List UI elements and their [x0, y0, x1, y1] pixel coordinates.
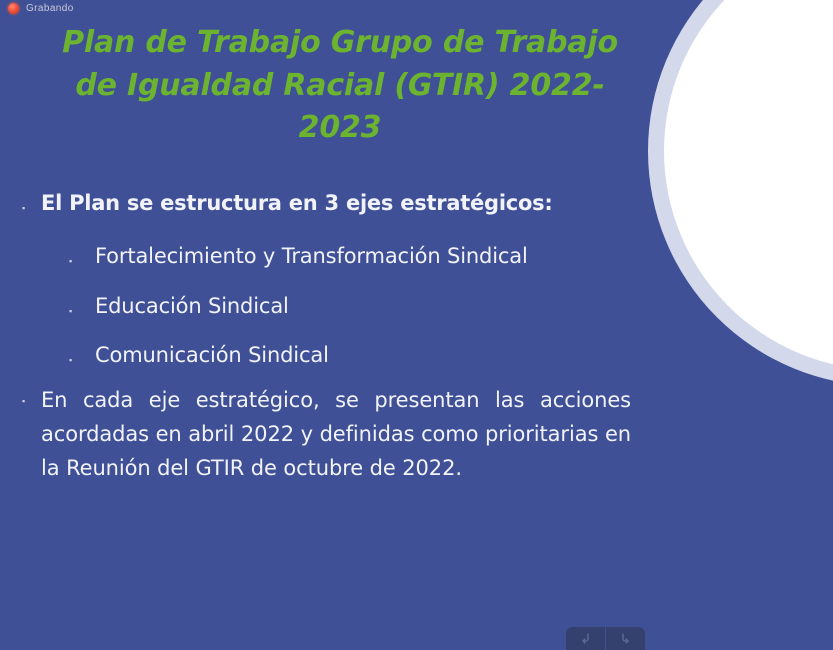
bullet-paragraph: ▪ En cada eje estratégico, se presentan …	[0, 383, 680, 485]
redo-button[interactable]	[605, 627, 645, 650]
sub-bullet-text: Comunicación Sindical	[95, 342, 329, 369]
bullet-lead-text: El Plan se estructura en 3 ejes estratég…	[41, 190, 553, 217]
presentation-slide: Grabando Plan de Trabajo Grupo de Trabaj…	[0, 0, 833, 650]
sub-bullet-axis-3: ▪ Comunicación Sindical	[0, 342, 680, 369]
sub-bullet-axis-1: ▪ Fortalecimiento y Transformación Sindi…	[0, 243, 680, 270]
undo-button[interactable]	[566, 627, 605, 650]
bullet-marker-icon: ▪	[69, 356, 79, 365]
bullet-marker-icon: ▪	[22, 204, 32, 213]
recording-indicator: Grabando	[8, 3, 74, 14]
undo-arrow-icon	[578, 631, 593, 646]
record-dot-icon	[8, 3, 19, 14]
bullet-marker-icon: ▪	[22, 397, 32, 406]
page-title: Plan de Trabajo Grupo de Trabajo de Igua…	[40, 22, 640, 150]
slide-body: ▪ El Plan se estructura en 3 ejes estrat…	[0, 190, 680, 485]
sub-bullet-text: Educación Sindical	[95, 293, 289, 320]
bullet-lead: ▪ El Plan se estructura en 3 ejes estrat…	[0, 190, 680, 217]
slide-navigation-toolbar	[566, 627, 645, 650]
bullet-marker-icon: ▪	[69, 307, 79, 316]
redo-arrow-icon	[618, 631, 633, 646]
sub-bullet-axis-2: ▪ Educación Sindical	[0, 293, 680, 320]
bullet-marker-icon: ▪	[69, 257, 79, 266]
recording-label: Grabando	[26, 3, 74, 14]
sub-bullet-text: Fortalecimiento y Transformación Sindica…	[95, 243, 528, 270]
decorative-circle	[664, 0, 833, 370]
paragraph-text: En cada eje estratégico, se presentan la…	[41, 383, 631, 485]
